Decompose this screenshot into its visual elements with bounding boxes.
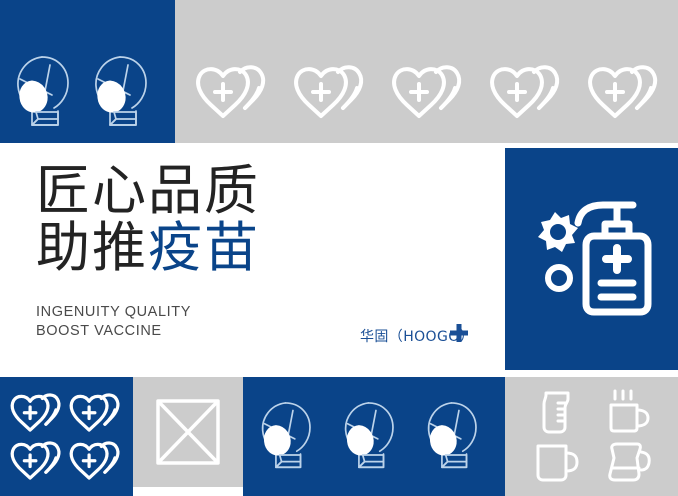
main-content-panel: 匠心品质 助推疫苗 INGENUITY QUALITY BOOST VACCIN… [0,148,495,360]
image-placeholder-icon [155,395,221,469]
subtitle-line-2: BOOST VACCINE [36,322,191,341]
headline-block: 匠心品质 助推疫苗 [36,162,466,276]
poster-canvas: 匠心品质 助推疫苗 INGENUITY QUALITY BOOST VACCIN… [0,0,678,496]
masked-face-icon [12,51,86,135]
bottom-placeholder-panel [133,377,243,487]
masked-face-icon [340,397,410,477]
sanitizer-illustration [517,186,667,331]
beaker-icon [536,389,578,435]
top-heart-icon-row [195,58,665,128]
virus-icon [538,212,578,252]
masked-face-icon [90,51,164,135]
image-placeholder-wrapper [155,395,221,469]
headline-line-2-plain: 助推 [36,216,148,279]
mug-icon [533,441,581,483]
headline-line-2-accent: 疫苗 [148,216,260,279]
double-heart-plus-icon [587,62,665,124]
kettle-icon [603,440,653,484]
headline-line-1: 匠心品质 [36,162,466,219]
top-mask-panel [0,0,175,143]
subtitle-block: INGENUITY QUALITY BOOST VACCINE [36,303,191,341]
steaming-mug-icon [604,388,652,436]
feature-icon-panel [505,148,678,370]
bottom-mask-icon-row [257,391,493,483]
plus-mark-icon [448,322,470,344]
double-heart-plus-icon [69,391,125,436]
double-heart-plus-icon [10,391,66,436]
headline-line-2: 助推疫苗 [36,219,466,276]
double-heart-plus-icon [489,62,567,124]
top-mask-icon-row [12,50,167,135]
bottom-kitchen-panel [505,377,678,496]
masked-face-icon [423,397,493,477]
bottom-mask-panel [243,377,505,496]
double-heart-plus-icon [10,439,66,484]
double-heart-plus-icon [293,62,371,124]
top-heart-panel [175,0,678,143]
sanitizer-bottle-icon [578,205,648,312]
bottom-heart-icon-grid [8,389,126,485]
double-heart-plus-icon [195,62,273,124]
subtitle-line-1: INGENUITY QUALITY [36,303,191,322]
bottom-kitchen-icon-grid [521,387,663,487]
double-heart-plus-icon [391,62,469,124]
masked-face-icon [257,397,327,477]
double-heart-plus-icon [69,439,125,484]
bottom-heart-panel [0,377,133,496]
dot-icon [548,267,570,289]
